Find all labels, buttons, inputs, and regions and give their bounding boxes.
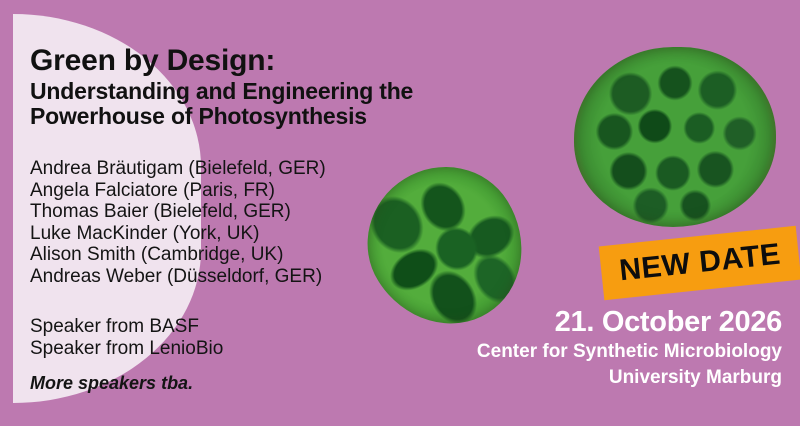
list-item: Andreas Weber (Düsseldorf, GER) xyxy=(30,266,460,288)
list-item: Andrea Bräutigam (Bielefeld, GER) xyxy=(30,158,460,180)
more-speakers-note: More speakers tba. xyxy=(30,373,193,394)
speaker-list: Andrea Bräutigam (Bielefeld, GER) Angela… xyxy=(30,158,460,287)
title-line-1: Green by Design: xyxy=(30,46,550,76)
new-date-badge: NEW DATE xyxy=(599,226,800,300)
title-line-2: Understanding and Engineering the xyxy=(30,80,550,103)
event-venue-line-2: University Marburg xyxy=(362,365,782,391)
poster-canvas: Green by Design: Understanding and Engin… xyxy=(0,0,800,426)
new-date-badge-label: NEW DATE xyxy=(618,238,782,289)
event-date: 21. October 2026 xyxy=(362,305,782,339)
event-details: 21. October 2026 Center for Synthetic Mi… xyxy=(362,305,782,391)
list-item: Angela Falciatore (Paris, FR) xyxy=(30,180,460,202)
title-line-3: Powerhouse of Photosynthesis xyxy=(30,105,550,128)
event-venue-line-1: Center for Synthetic Microbiology xyxy=(362,339,782,365)
list-item: Luke MacKinder (York, UK) xyxy=(30,223,460,245)
page-title: Green by Design: Understanding and Engin… xyxy=(30,46,550,128)
list-item: Alison Smith (Cambridge, UK) xyxy=(30,244,460,266)
algae-cell-large-icon xyxy=(574,47,776,227)
algae-cell-large-body xyxy=(574,47,776,227)
list-item: Thomas Baier (Bielefeld, GER) xyxy=(30,201,460,223)
